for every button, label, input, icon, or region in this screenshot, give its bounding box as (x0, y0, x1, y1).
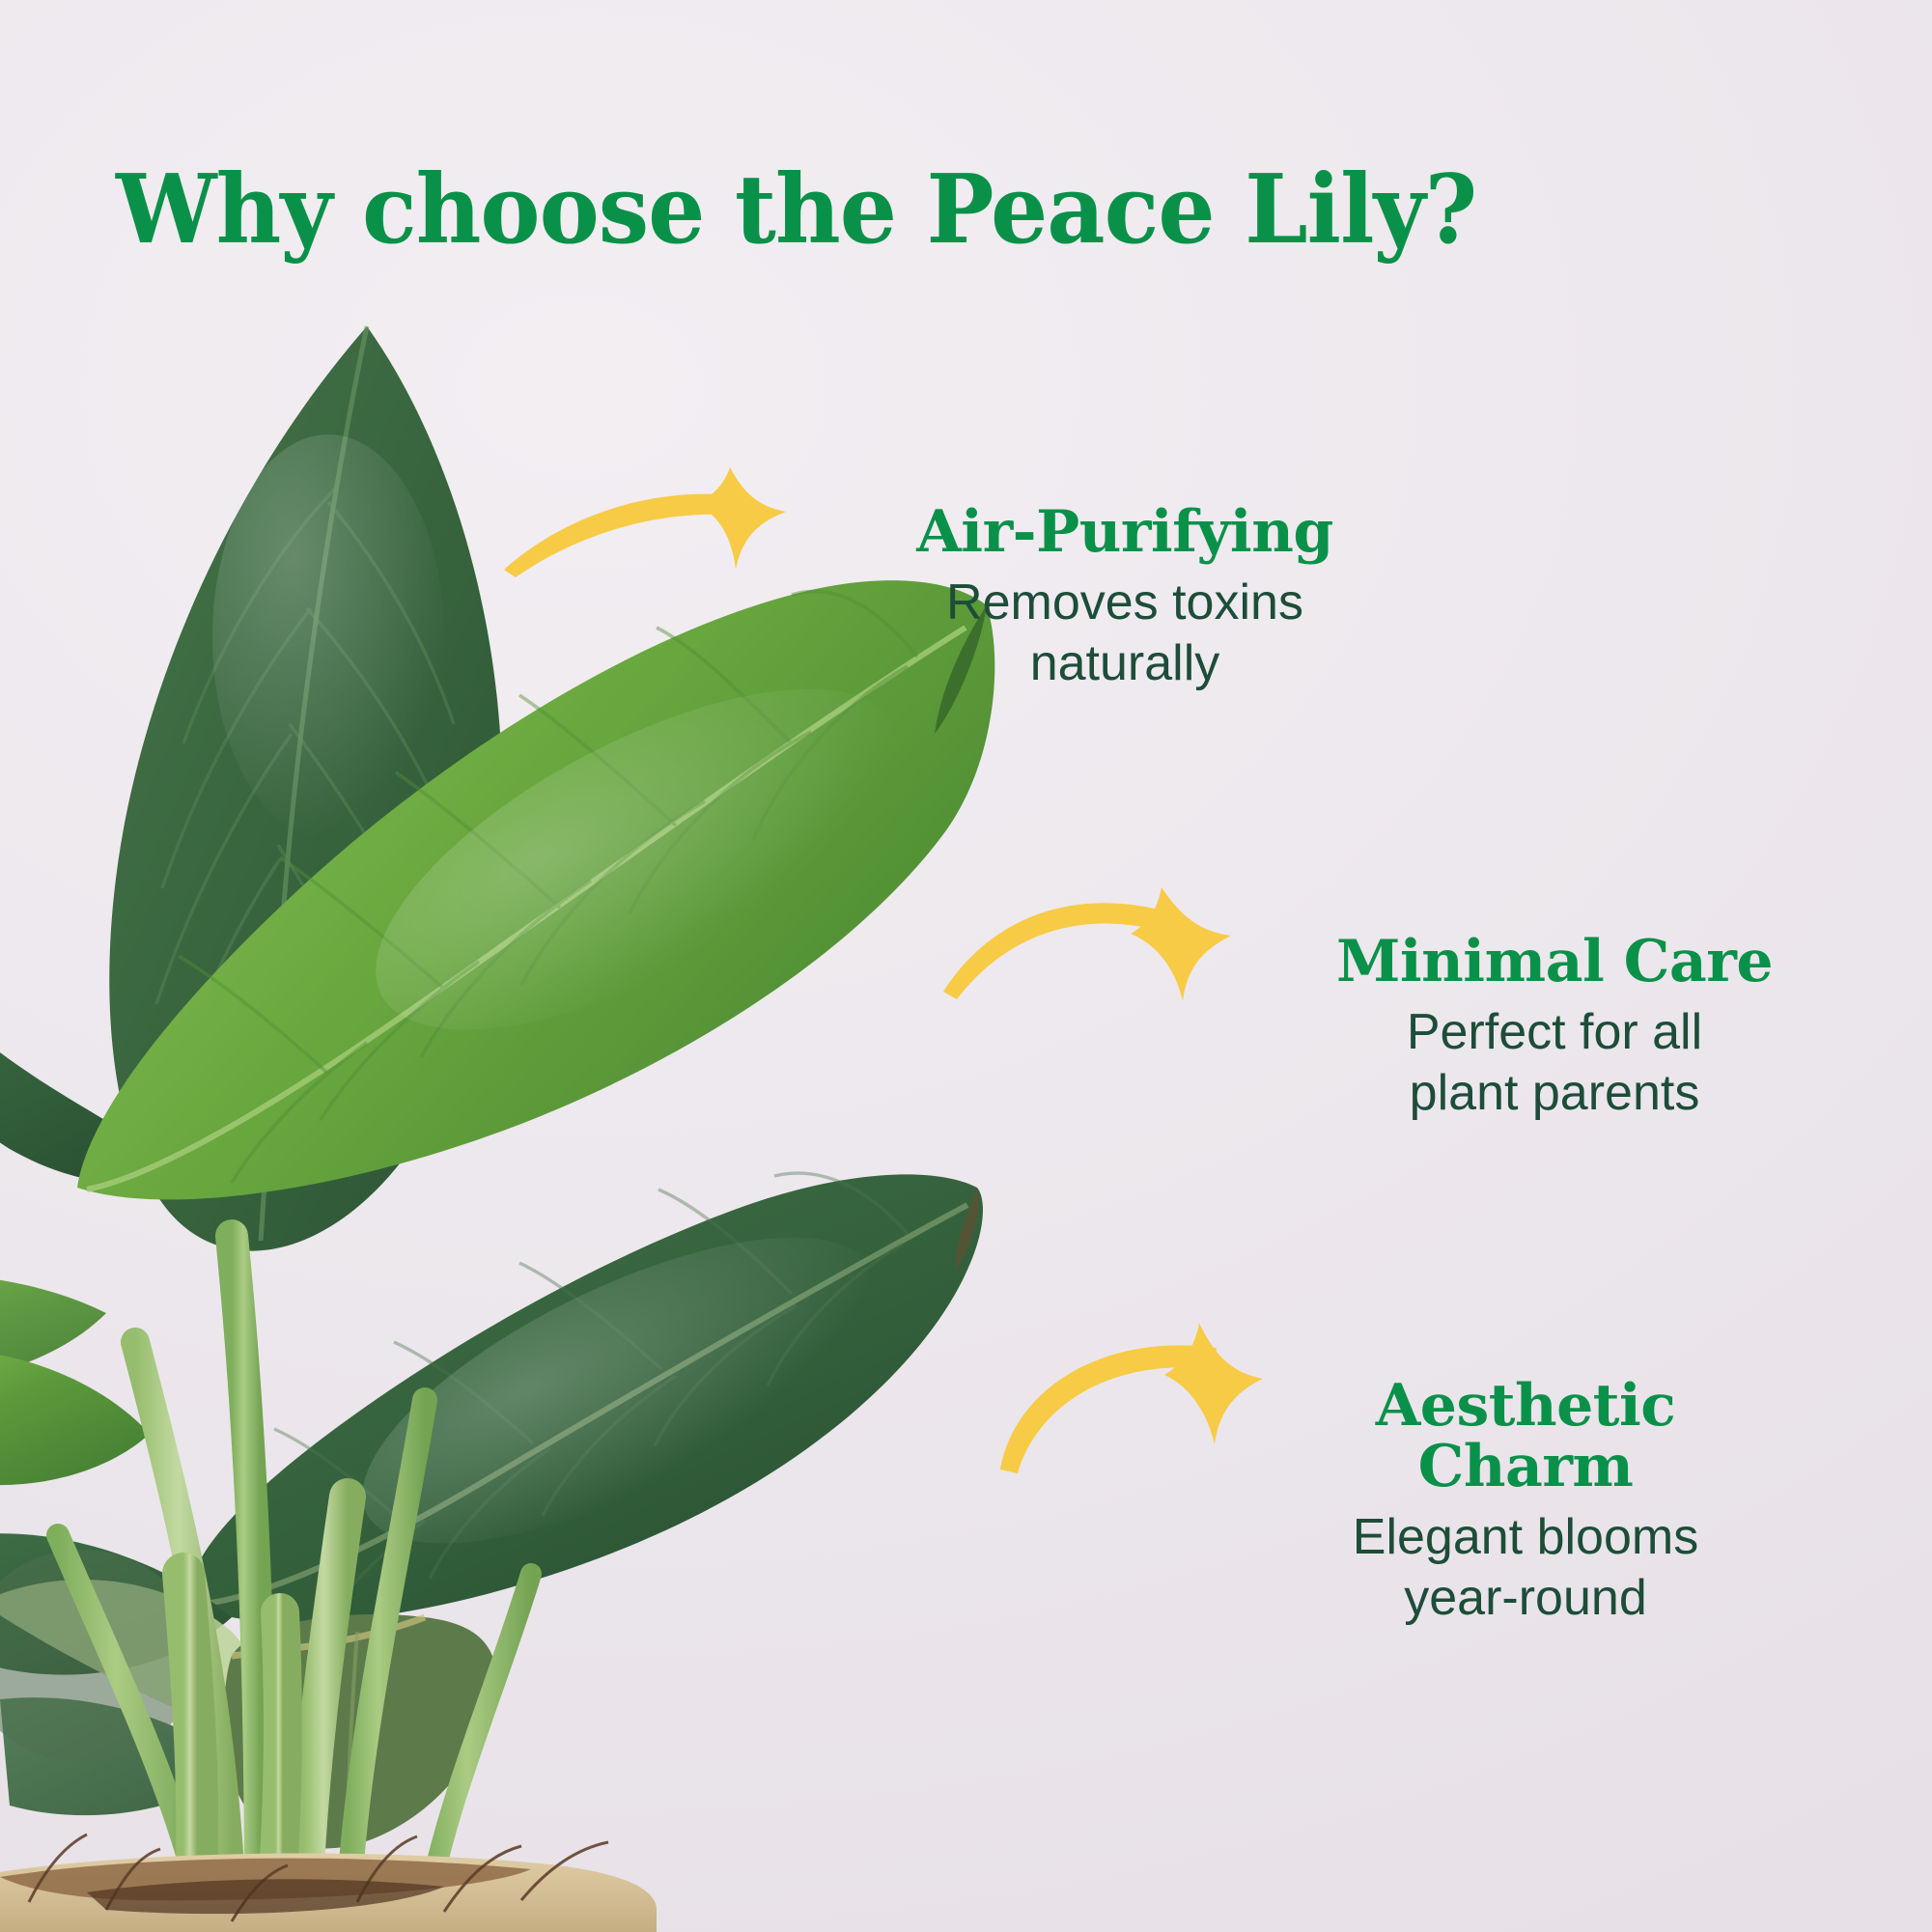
infographic-canvas: Why choose the Peace Lily? Air-Purifying… (0, 0, 1932, 1932)
callout-subtitle-line-2: naturally (898, 633, 1352, 694)
callout-heading: Air-Purifying (898, 502, 1352, 563)
callout-heading-line-1: Aesthetic (1332, 1376, 1719, 1437)
callout-subtitle-line-1: Elegant blooms (1332, 1507, 1719, 1568)
pot-and-soil (0, 1834, 657, 1932)
callout-subtitle: Elegant blooms year-round (1332, 1507, 1719, 1630)
callout-subtitle-line-1: Removes toxins (898, 573, 1352, 633)
callout-air-purifying: Air-Purifying Removes toxins naturally (898, 502, 1352, 695)
callout-subtitle: Removes toxins naturally (898, 573, 1352, 695)
page-title: Why choose the Peace Lily? (116, 154, 1476, 266)
callout-subtitle-line-1: Perfect for all (1328, 1002, 1781, 1063)
callout-heading: Aesthetic Charm (1332, 1376, 1719, 1498)
callout-aesthetic-charm: Aesthetic Charm Elegant blooms year-roun… (1332, 1376, 1719, 1630)
callout-subtitle-line-2: year-round (1332, 1568, 1719, 1629)
callout-minimal-care: Minimal Care Perfect for all plant paren… (1328, 932, 1781, 1125)
callout-heading-line-2: Charm (1332, 1437, 1719, 1498)
callout-subtitle-line-2: plant parents (1328, 1063, 1781, 1124)
callout-heading: Minimal Care (1328, 932, 1781, 993)
callout-subtitle: Perfect for all plant parents (1328, 1002, 1781, 1125)
leaf-lower-dark (189, 1173, 983, 1630)
